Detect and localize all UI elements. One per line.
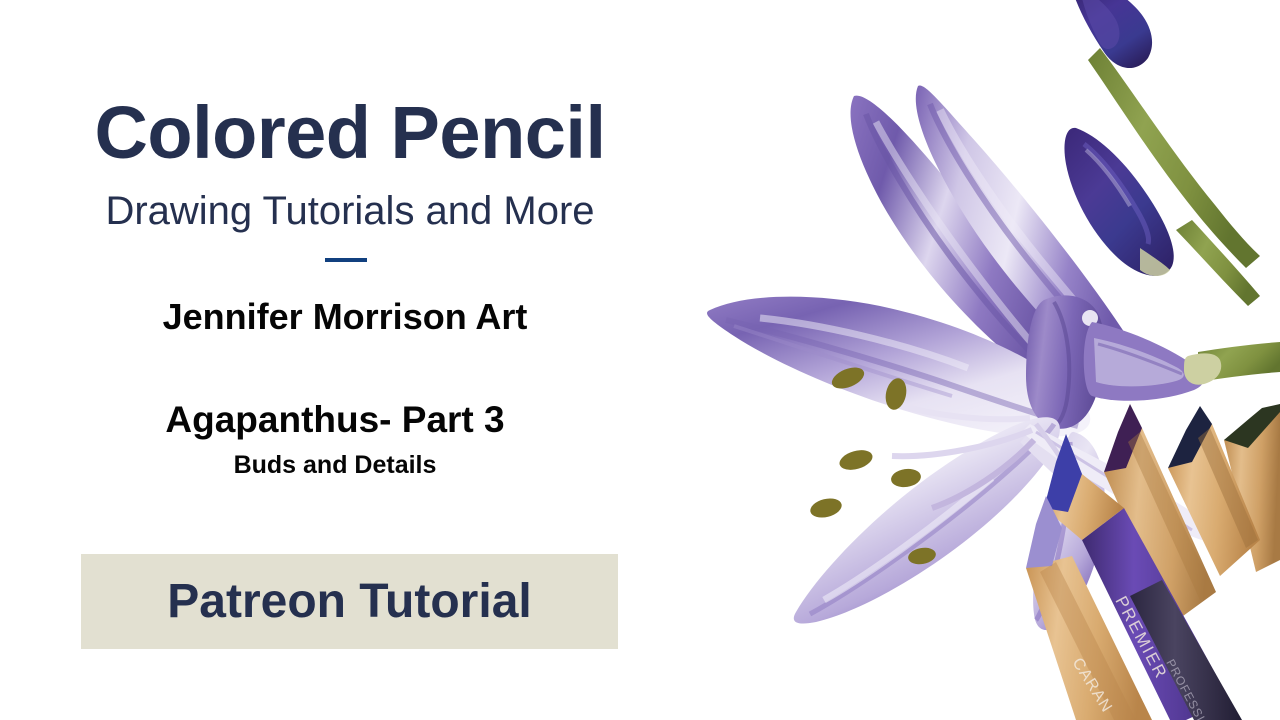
page-title: Colored Pencil (0, 96, 700, 170)
patreon-tutorial-label: Patreon Tutorial (81, 574, 618, 629)
lesson-title: Agapanthus- Part 3 (0, 401, 670, 438)
colored-pencils-group: PREMIER CARAN PROFESSIONAL (1026, 404, 1280, 720)
anther-3 (837, 447, 875, 474)
lesson-subtitle: Buds and Details (0, 453, 670, 478)
receptacle (1184, 353, 1221, 384)
page-subtitle: Drawing Tutorials and More (0, 191, 700, 231)
agapanthus-illustration: PREMIER CARAN PROFESSIONAL (700, 0, 1280, 720)
patreon-tutorial-banner[interactable]: Patreon Tutorial (81, 554, 618, 649)
title-divider (325, 258, 367, 262)
flower-tube-group (1026, 295, 1204, 428)
anther-5 (808, 495, 843, 520)
artist-name: Jennifer Morrison Art (0, 299, 690, 335)
thumbnail-canvas: Colored Pencil Drawing Tutorials and Mor… (0, 0, 1280, 720)
receptacle-stem-group (1184, 342, 1280, 385)
